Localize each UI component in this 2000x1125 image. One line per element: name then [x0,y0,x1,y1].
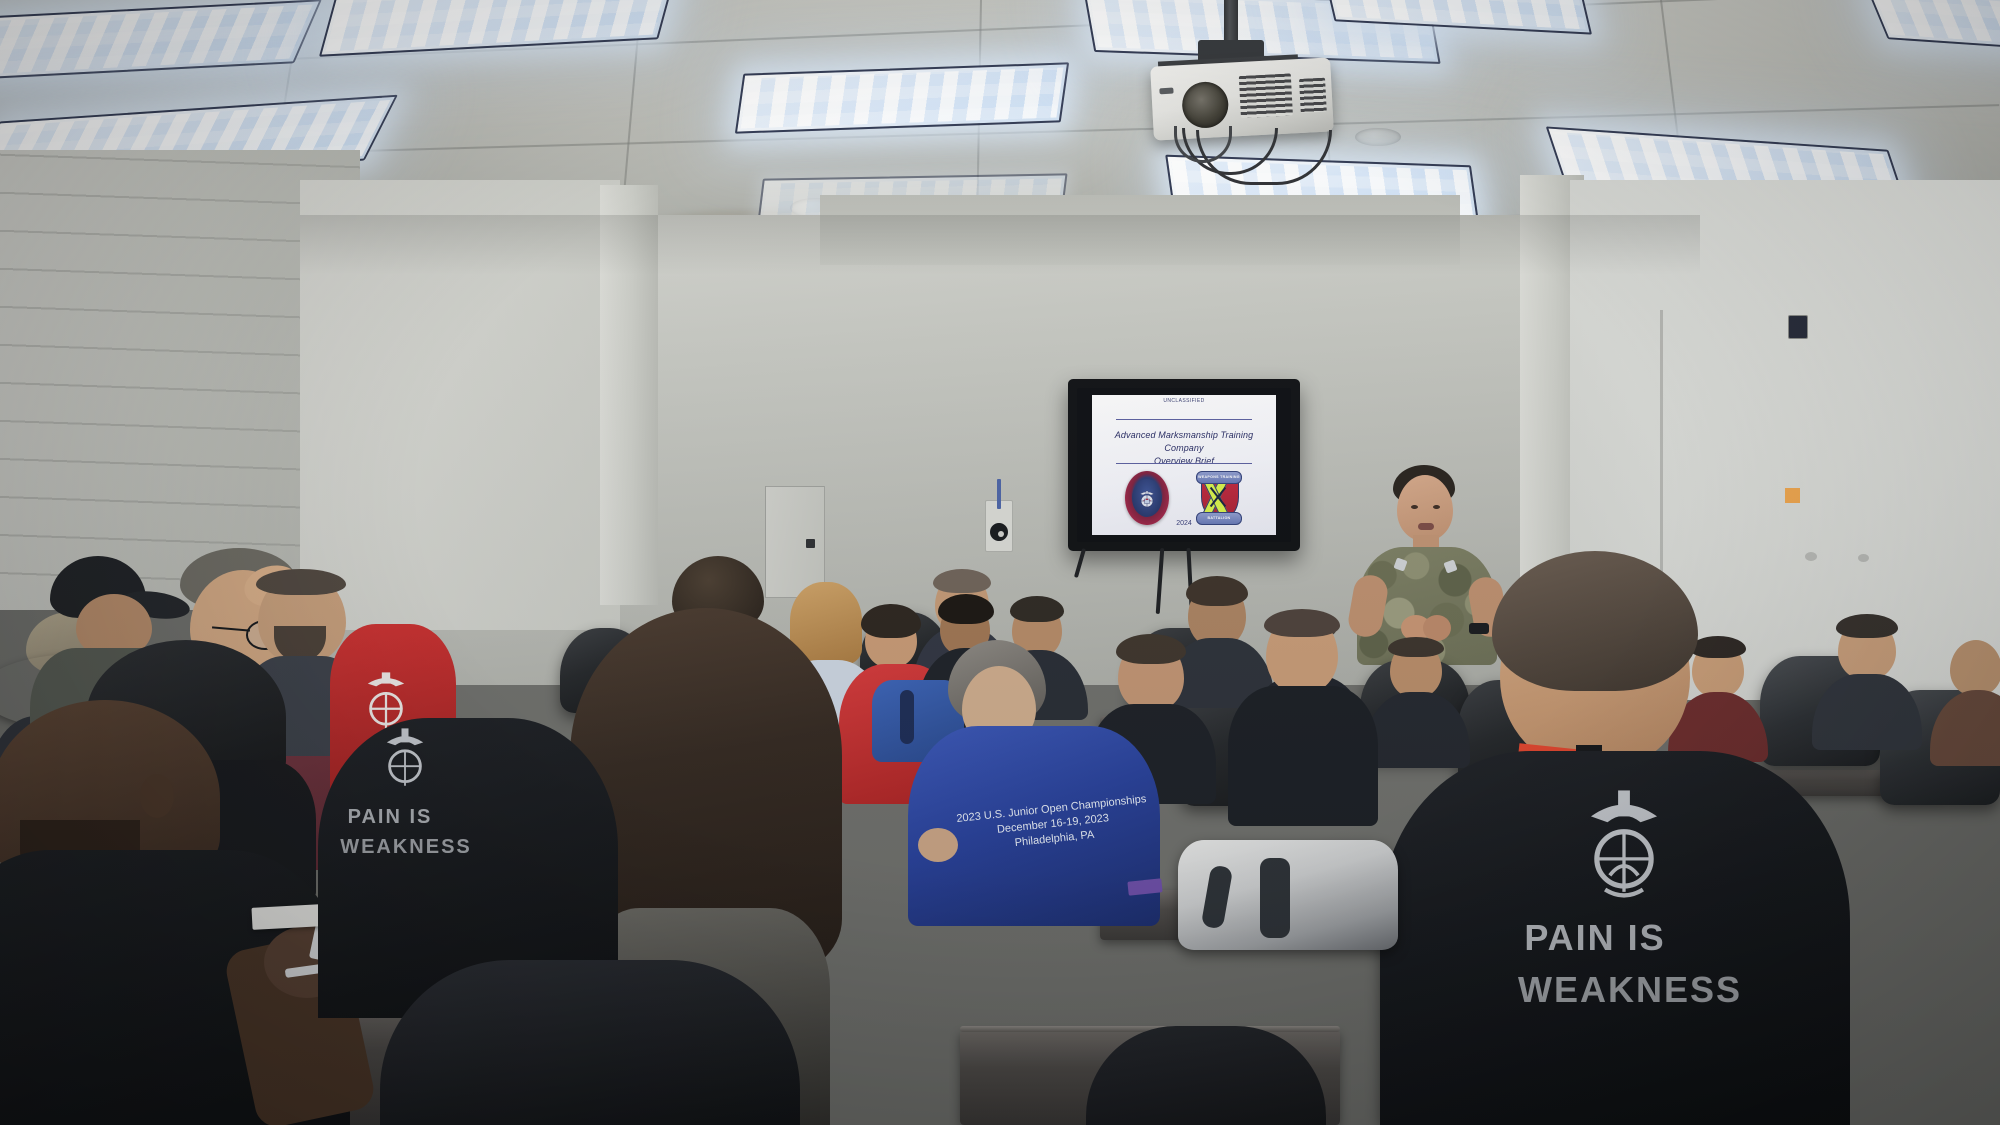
panel-latch[interactable] [806,539,815,548]
wall-sensor-device [1788,315,1808,339]
pen-holder-disc [990,523,1008,541]
slide-classification: UNCLASSIFIED [1092,398,1276,404]
shirt-text-line1: PAIN IS [300,806,480,829]
eagle-globe-anchor-icon [1137,486,1157,510]
classroom-briefing-photo: UNCLASSIFIED Advanced Marksmanship Train… [0,0,2000,1125]
projector-indicator [1159,88,1173,95]
projector-mount-pole [1224,0,1238,44]
slide-emblems: WEAPONS TRAINING BATTALION [1092,471,1276,525]
backpack-strap [1260,858,1290,938]
eagle-globe-anchor-icon [376,720,434,790]
attendee-hair [1492,551,1698,691]
presenter-mouth [1418,523,1434,530]
wall-top-shadow [300,215,1700,275]
presenter-eye-left [1411,505,1418,509]
attendee-ear [140,774,174,818]
attendee-hair [861,604,921,638]
shirt-text-line2: WEAKNESS [306,836,506,859]
backpack-strap [900,690,914,744]
presenter-eye-right [1433,505,1440,509]
attendee-hair [933,569,991,593]
projector-lens [1181,81,1229,129]
projector-vent [1299,78,1327,113]
eagle-globe-anchor-icon [1576,781,1672,899]
attendee-hand [918,828,958,862]
attendee-hair [938,594,994,624]
slide-divider-top [1116,419,1252,420]
attendee-torso [1228,686,1378,826]
wall-mark [1805,552,1817,561]
attendee-hair [256,569,346,595]
wall-pen-holder[interactable] [985,500,1013,552]
ceiling-speaker [1355,128,1401,146]
attendee-hair [1836,614,1898,638]
slide-divider-bottom [1116,463,1252,464]
wall-mounted-tv[interactable]: UNCLASSIFIED Advanced Marksmanship Train… [1068,379,1300,551]
shirt-text-line1: PAIN IS [1420,917,1770,959]
attendee-junior-open-jacket: 2023 U.S. Junior Open Championships Dece… [928,640,1178,940]
shirt-text-line2: WEAKNESS [1440,969,1820,1011]
paper-sheet[interactable] [251,904,322,930]
wall-mark [1858,554,1869,562]
slide-title-line2: Overview Brief [1103,455,1265,468]
slide-title-line1: Advanced Marksmanship Training Company [1103,429,1265,455]
ceiling-light-fixture [0,0,322,81]
marker-pen[interactable] [997,479,1001,509]
weapons-training-battalion-crest: WEAPONS TRAINING BATTALION [1195,471,1243,525]
ceiling-light-fixture [735,62,1069,133]
presenter-head [1397,475,1453,541]
usmc-unit-seal-emblem [1125,471,1169,525]
attendee-pain-is-weakness-right: PAIN IS WEAKNESS [1400,565,1860,1125]
projector-vent [1239,73,1293,118]
attendee-torso [1086,1026,1326,1125]
orange-sticky-note[interactable] [1785,488,1800,503]
ceiling-light-fixture [1866,0,2000,53]
crest-top-scroll: WEAPONS TRAINING [1196,471,1242,484]
attendee-hair [1010,596,1064,622]
attendee-hair [1264,609,1340,637]
chair[interactable] [380,960,800,1125]
electrical-access-panel[interactable] [765,486,825,598]
slide-year: 2024 [1092,520,1276,527]
attendee-bottom-edge [1086,1026,1346,1125]
presentation-slide: UNCLASSIFIED Advanced Marksmanship Train… [1092,395,1276,535]
attendee-head [1950,640,2000,696]
attendee-hair [1186,576,1248,606]
